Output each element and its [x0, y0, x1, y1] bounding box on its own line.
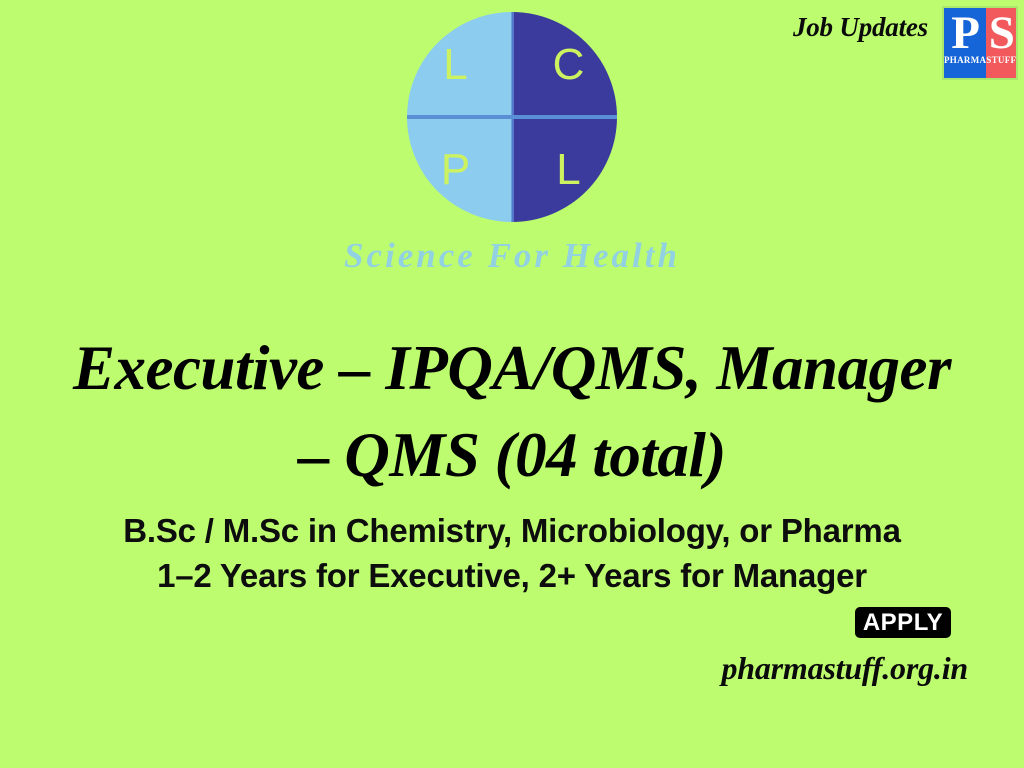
company-logo-quadrant-bottom-left: P — [407, 117, 512, 222]
experience-text: 1–2 Years for Executive, 2+ Years for Ma… — [40, 554, 984, 599]
company-logo: L C P L — [407, 12, 617, 222]
company-logo-letter-1: L — [443, 43, 467, 87]
company-tagline: Science For Health — [0, 236, 1024, 276]
company-logo-horizontal-divider — [407, 115, 617, 119]
pharmastuff-logo-letter-p: P — [951, 10, 979, 56]
pharmastuff-logo-word-pharma: PHARMA — [944, 55, 986, 65]
job-requirements: B.Sc / M.Sc in Chemistry, Microbiology, … — [40, 509, 984, 598]
pharmastuff-logo-word-stuff: STUFF — [986, 55, 1016, 65]
page-title-line-2: – QMS (04 total) — [40, 412, 984, 499]
job-poster: Job Updates P PHARMA S STUFF L C P — [0, 0, 1024, 768]
website-url[interactable]: pharmastuff.org.in — [721, 650, 968, 687]
company-logo-quadrant-top-left: L — [407, 12, 512, 117]
pharmastuff-logo-stuff-half: S STUFF — [986, 8, 1016, 78]
pharmastuff-logo-letter-s: S — [989, 10, 1014, 56]
company-logo-letter-2: C — [553, 43, 585, 87]
apply-button[interactable]: APPLY — [855, 607, 951, 638]
job-updates-label: Job Updates — [793, 14, 928, 41]
pharmastuff-logo[interactable]: P PHARMA S STUFF — [942, 6, 1018, 80]
page-title-line-1: Executive – IPQA/QMS, Manager — [40, 325, 984, 412]
pharmastuff-logo-pharma-half: P PHARMA — [944, 8, 986, 78]
company-logo-quadrant-top-right: C — [512, 12, 617, 117]
brand-strip: Job Updates P PHARMA S STUFF — [793, 6, 1018, 80]
company-logo-circle-icon: L C P L — [407, 12, 617, 222]
company-logo-letter-3: P — [441, 148, 470, 192]
company-logo-letter-4: L — [556, 148, 580, 192]
qualification-text: B.Sc / M.Sc in Chemistry, Microbiology, … — [40, 509, 984, 554]
page-title: Executive – IPQA/QMS, Manager – QMS (04 … — [40, 325, 984, 499]
apply-button-label: APPLY — [863, 611, 943, 635]
company-logo-quadrant-bottom-right: L — [512, 117, 617, 222]
